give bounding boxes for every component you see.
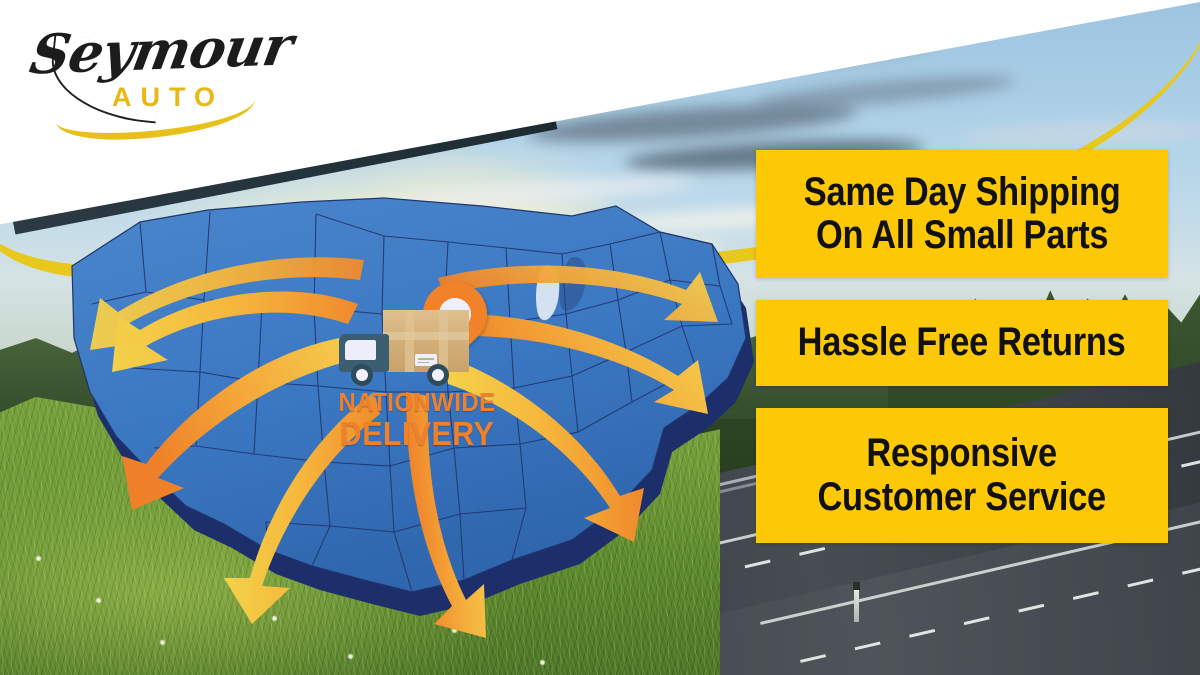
roadside-marker-post [854, 588, 859, 622]
delivery-caption-line1: NATIONWIDE [325, 388, 509, 416]
promotional-banner: Seymour AUTO [0, 0, 1200, 675]
brand-script-name: Seymour [25, 14, 297, 87]
message-bar-hassle-free-returns[interactable]: Hassle Free Returns [756, 300, 1168, 386]
message-bar-text: Responsive Customer Service [818, 432, 1106, 518]
message-line-1: Same Day Shipping [804, 170, 1121, 214]
message-bars: Same Day Shipping On All Small Parts Has… [756, 150, 1168, 543]
delivery-caption: NATIONWIDE DELIVERY [317, 388, 517, 451]
nationwide-delivery-badge: NATIONWIDE DELIVERY [325, 276, 505, 451]
truck-window [345, 340, 376, 360]
truck-wheel [351, 364, 373, 386]
message-bar-text: Hassle Free Returns [798, 321, 1126, 364]
message-line-1: Hassle Free Returns [798, 320, 1126, 364]
brand-logo[interactable]: Seymour AUTO [26, 16, 276, 126]
box-tape [383, 332, 469, 340]
box-tape [439, 310, 448, 372]
delivery-caption-line2: DELIVERY [325, 416, 509, 451]
message-bar-responsive-customer-service[interactable]: Responsive Customer Service [756, 408, 1168, 543]
message-bar-same-day-shipping[interactable]: Same Day Shipping On All Small Parts [756, 150, 1168, 278]
brand-sub-name: AUTO [112, 82, 224, 113]
message-line-1: Responsive [867, 431, 1058, 475]
truck-wheel [427, 364, 449, 386]
message-bar-text: Same Day Shipping On All Small Parts [804, 171, 1121, 257]
delivery-truck-icon [339, 306, 479, 388]
box-tape [405, 310, 414, 372]
message-line-2: Customer Service [818, 475, 1106, 519]
message-line-2: On All Small Parts [816, 213, 1108, 257]
